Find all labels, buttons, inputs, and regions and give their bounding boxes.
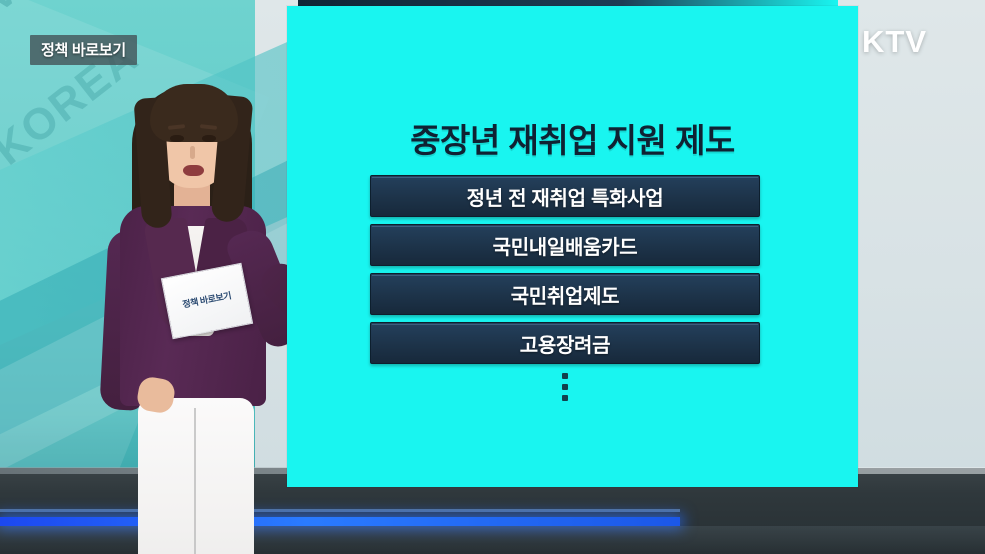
presenter-held-card-label: 정책 바로보기 [182,291,233,311]
graphic-panel: 중장년 재취업 지원 제도 정년 전 재취업 특화사업 국민내일배움카드 국민취… [287,6,858,487]
vertical-ellipsis-icon [370,373,760,401]
presenter-eye-right [202,135,216,142]
channel-logo: KTV [862,24,927,60]
list-item-label: 정년 전 재취업 특화사업 [467,182,664,211]
presenter-eye-left [170,135,184,142]
list-item: 국민취업제도 [370,273,760,315]
presenter-trousers [138,398,254,554]
presenter-hair-front [150,84,238,142]
presenter-mouth [183,165,204,176]
list-item-label: 고용장려금 [520,329,611,358]
list-item-label: 국민내일배움카드 [493,231,638,260]
list-item: 국민내일배움카드 [370,224,760,266]
list-item: 고용장려금 [370,322,760,364]
list-item-label: 국민취업제도 [511,280,620,309]
graphic-panel-item-list: 정년 전 재취업 특화사업 국민내일배움카드 국민취업제도 고용장려금 [370,175,760,406]
presenter-nose [190,146,195,159]
broadcast-screenshot: LIVE KOREA LIVE KOREA 정책 바로보기 [0,0,985,554]
graphic-panel-title: 중장년 재취업 지원 제도 [287,114,858,162]
ellipsis-dot [562,373,568,379]
program-badge: 정책 바로보기 [30,35,137,65]
presenter-trouser-seam [194,408,196,554]
ellipsis-dot [562,384,568,390]
list-item: 정년 전 재취업 특화사업 [370,175,760,217]
ellipsis-dot [562,395,568,401]
